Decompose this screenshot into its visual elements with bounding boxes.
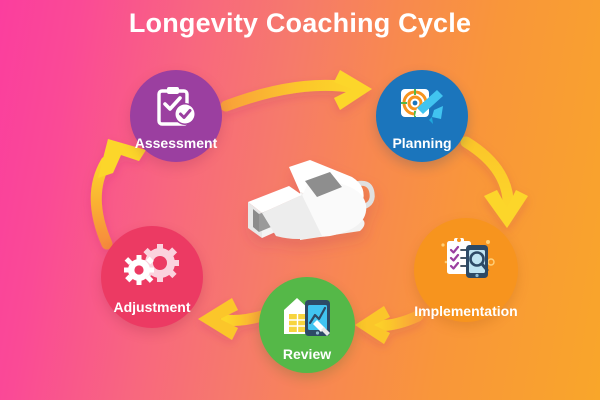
cycle-node-label: Assessment	[135, 136, 218, 150]
checklist-tablet-search-icon	[437, 236, 495, 284]
cycle-node-review[interactable]: Review	[259, 277, 355, 373]
whistle-icon	[248, 160, 372, 240]
cycle-node-planning[interactable]: Planning	[376, 70, 468, 162]
cycle-node-label: Review	[283, 347, 331, 361]
cycle-node-label: Implementation	[414, 304, 517, 318]
arrow-review-to-adjustment	[198, 298, 262, 340]
arrow-planning-to-implementation	[466, 142, 528, 228]
cycle-node-adjustment[interactable]: Adjustment	[101, 226, 203, 328]
clipboard-check-icon	[154, 86, 198, 128]
cycle-node-label: Planning	[392, 136, 451, 150]
gears-icon	[124, 244, 180, 290]
cycle-node-label: Adjustment	[114, 300, 191, 314]
arrow-assessment-to-planning	[226, 70, 372, 110]
chart-tablet-icon	[281, 292, 333, 338]
cycle-node-assessment[interactable]: Assessment	[130, 70, 222, 162]
arrow-implementation-to-review	[355, 306, 418, 344]
infographic-canvas: Longevity Coaching Cycle	[0, 0, 600, 400]
target-pencil-icon	[399, 86, 445, 128]
cycle-node-implementation[interactable]: Implementation	[414, 218, 518, 322]
